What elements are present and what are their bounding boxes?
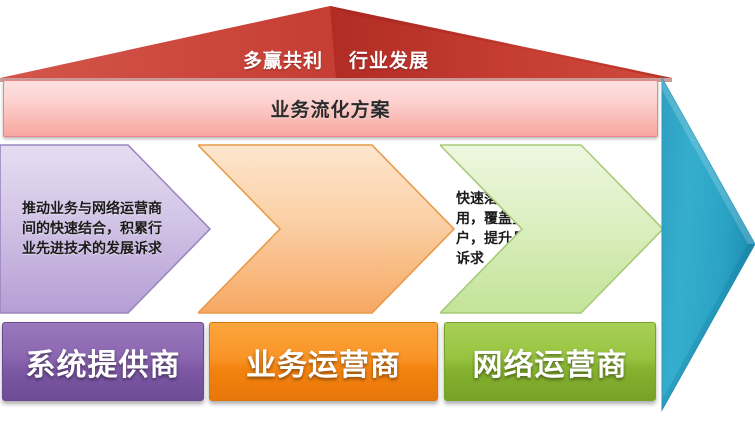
right-arrow-icon	[658, 74, 755, 414]
chevron-shape-3-icon	[440, 143, 672, 315]
roof-slogan: 多赢共利行业发展	[0, 46, 672, 73]
roof-slogan-right: 行业发展	[349, 51, 429, 72]
role-label-1: 业务运营商	[246, 340, 401, 384]
chevron-1-text: 推动业务与网络运营商间的快速结合，积累行业先进技术的发展诉求	[22, 143, 174, 315]
role-label-2: 网络运营商	[473, 340, 628, 384]
chevron-system-provider: 推动业务与网络运营商间的快速结合，积累行业先进技术的发展诉求	[0, 143, 214, 315]
role-box-network-operator[interactable]: 网络运营商	[444, 322, 656, 401]
role-label-0: 系统提供商	[26, 340, 181, 384]
chevron-business-operator: 快速落地广电专区或应用，覆盖全国广电用户，提升品牌覆盖度的诉求	[198, 143, 460, 315]
chevron-network-operator: 激活存量用户打破系统壁垒，保持并提高用户黏度的发展诉求	[440, 143, 672, 315]
role-box-system-provider[interactable]: 系统提供商	[2, 322, 204, 401]
chevron-shape-2-icon	[198, 143, 460, 315]
solution-banner: 业务流化方案	[3, 80, 658, 137]
roof-slogan-left: 多赢共利	[243, 51, 323, 72]
solution-banner-title: 业务流化方案	[270, 95, 390, 122]
diagram-canvas: 多赢共利行业发展 业务流化方案 推动业务与网络运营商间的快速结合，积累行业先进技…	[0, 0, 755, 428]
chevron-row: 推动业务与网络运营商间的快速结合，积累行业先进技术的发展诉求 快速落地广电专区或…	[0, 143, 672, 315]
user-arrow: 用户	[658, 74, 755, 414]
roof-shape: 多赢共利行业发展	[0, 4, 672, 82]
role-box-business-operator[interactable]: 业务运营商	[209, 322, 438, 401]
